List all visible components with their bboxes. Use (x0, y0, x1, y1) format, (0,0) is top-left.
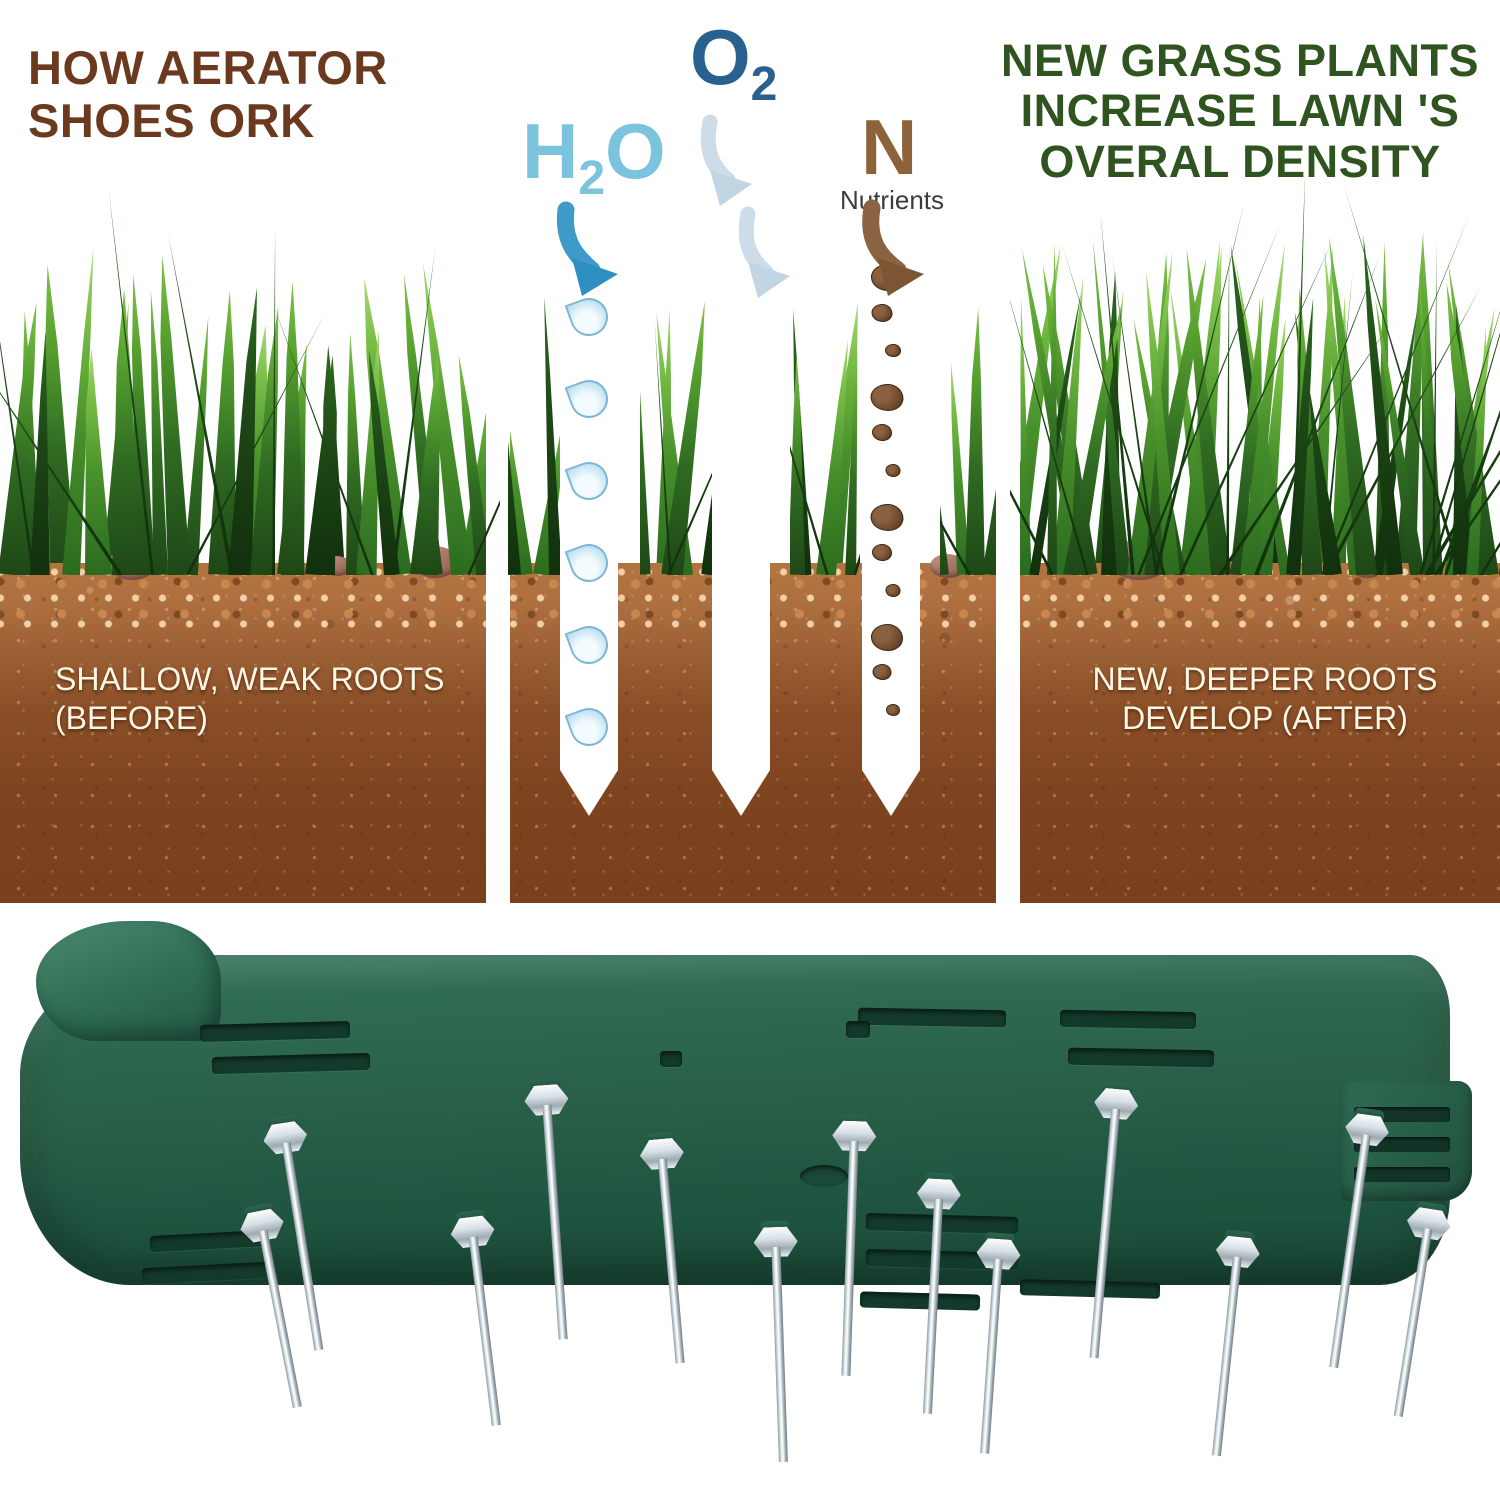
infographic-page: HOW AERATOR SHOES ORK NEW GRASS PLANTS I… (0, 0, 1500, 1500)
water-symbol: H (522, 107, 578, 195)
channel-tip (560, 770, 618, 816)
oxygen-subscript: 2 (751, 58, 778, 111)
nutrient-pellet-icon (885, 344, 901, 357)
spike-shank (1089, 1109, 1120, 1359)
spike-shank (1212, 1256, 1242, 1456)
left-edge-channel (486, 238, 510, 903)
page-title-before: HOW AERATOR SHOES ORK (28, 42, 478, 147)
nutrient-pellet-icon (886, 584, 901, 597)
label-nitrogen: N (861, 108, 917, 186)
grass-blade (965, 308, 988, 575)
curved-down-arrow-water-icon (548, 196, 658, 306)
spike-shank (542, 1105, 567, 1340)
spike-shank (469, 1236, 501, 1426)
nutrient-pellet-icon (872, 544, 892, 561)
metal-spike (824, 1114, 877, 1380)
nutrient-pellet-icon (871, 624, 903, 651)
spike-shank (841, 1141, 858, 1376)
nutrient-pellet-icon (886, 704, 900, 716)
vent-slot (846, 1021, 870, 1038)
vent-slot (660, 1051, 682, 1067)
nutrient-pellet-icon (872, 424, 892, 441)
vent-slot (1060, 1010, 1196, 1029)
water-channel (560, 258, 618, 770)
metal-spike (753, 1220, 806, 1466)
caption-before: SHALLOW, WEAK ROOTS (BEFORE) (55, 660, 455, 738)
nutrient-pellet-icon (871, 504, 904, 531)
water-droplet-icon (565, 703, 614, 752)
water-droplet-icon (565, 621, 614, 670)
label-water: H2O (522, 112, 666, 203)
nutrient-pellet-icon (886, 464, 901, 477)
vent-slot (1068, 1048, 1214, 1068)
channel-tip (712, 770, 770, 816)
heel-cup (36, 921, 221, 1041)
nutrient-pellet-icon (873, 664, 892, 680)
channel-tip (862, 770, 920, 816)
vent-slot (858, 1008, 1006, 1028)
spike-shank (771, 1247, 787, 1462)
right-edge-channel (996, 244, 1020, 903)
spike-shank (658, 1159, 685, 1364)
nutrient-pellet-icon (871, 384, 904, 411)
grass-whisker (1226, 244, 1231, 575)
water-droplet-icon (565, 539, 614, 588)
aeration-diagram: HOW AERATOR SHOES ORK NEW GRASS PLANTS I… (0, 0, 1500, 903)
caption-after: NEW, DEEPER ROOTS DEVELOP (AFTER) (1075, 660, 1455, 738)
nutrient-channel (862, 236, 920, 770)
curved-down-arrow-oxygen-lower-icon (728, 204, 824, 314)
oxygen-symbol: O (690, 13, 751, 101)
page-title-after: NEW GRASS PLANTS INCREASE LAWN 'S OVERAL… (1000, 36, 1480, 187)
water-symbol-tail: O (605, 107, 666, 195)
water-droplet-icon (565, 375, 614, 424)
product-photo (0, 903, 1500, 1500)
spike-shank (923, 1199, 943, 1414)
label-oxygen: O2 (690, 18, 777, 109)
spike-shank (980, 1259, 1003, 1454)
oxygen-channel (712, 248, 770, 770)
curved-down-arrow-nutrients-icon (852, 196, 962, 308)
grass-blade (640, 291, 651, 575)
water-droplet-icon (565, 457, 614, 506)
